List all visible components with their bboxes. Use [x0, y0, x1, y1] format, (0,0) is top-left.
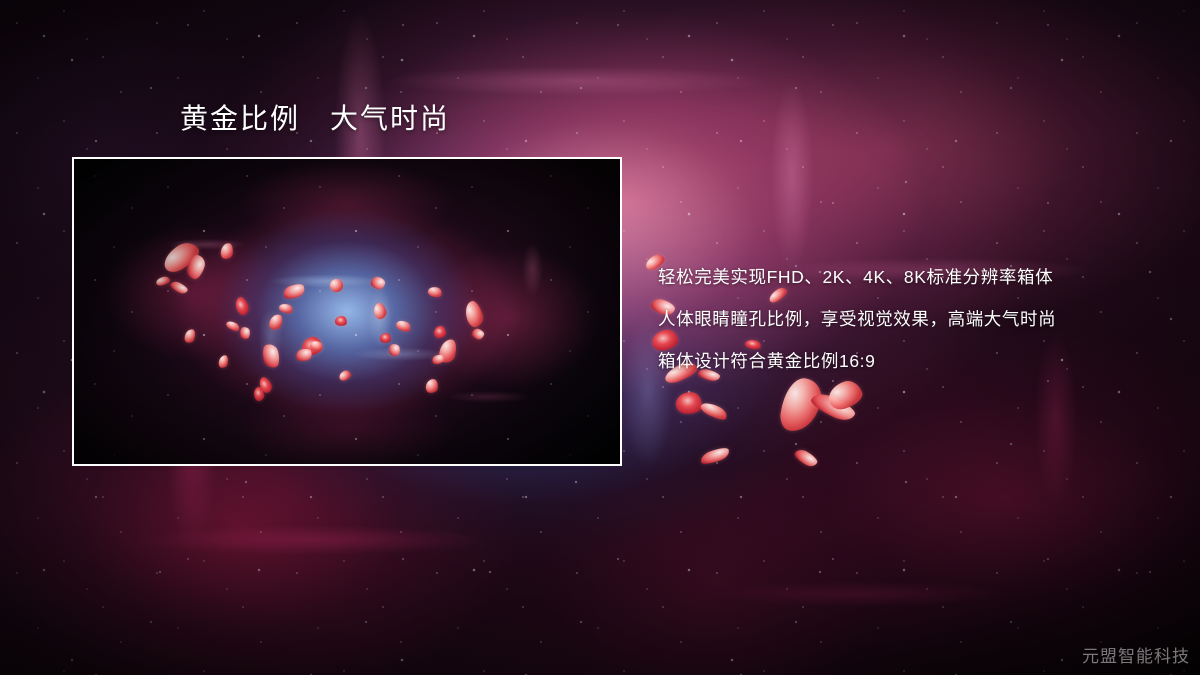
petal	[471, 327, 486, 341]
petal	[155, 275, 171, 286]
petal	[808, 389, 857, 424]
petal	[395, 318, 413, 334]
body-line-3: 箱体设计符合黄金比例16:9	[658, 340, 1168, 382]
petal	[185, 253, 208, 281]
petal	[309, 339, 325, 353]
petal	[793, 447, 820, 469]
petal	[301, 336, 323, 357]
petal	[370, 275, 386, 290]
watermark: 元盟智能科技	[1082, 642, 1190, 667]
petal	[379, 332, 391, 343]
page-title: 黄金比例 大气时尚	[180, 102, 450, 136]
petal	[169, 280, 189, 296]
petal	[233, 295, 251, 316]
body-line-1: 轻松完美实现FHD、2K、4K、8K标准分辨率箱体	[658, 256, 1168, 298]
inner-image-vignette	[74, 159, 620, 464]
petal	[778, 376, 823, 435]
petal	[433, 325, 446, 338]
petal	[330, 279, 343, 292]
petal	[278, 302, 294, 315]
petal	[257, 375, 274, 394]
petal	[388, 343, 401, 357]
image-frame	[72, 157, 622, 466]
petal	[281, 282, 306, 302]
petal	[253, 386, 266, 402]
petal	[267, 312, 284, 331]
inner-nebula-wisps	[74, 159, 620, 464]
petal	[463, 299, 486, 328]
petal	[425, 378, 439, 394]
petal	[334, 315, 348, 327]
petal	[437, 337, 458, 364]
petal	[239, 327, 250, 340]
petal	[431, 353, 445, 366]
presentation-slide: 黄金比例 大气时尚 轻松完美实现FHD、2K、4K、8K标准分辨率箱体 人体眼睛…	[0, 0, 1200, 675]
petal	[220, 242, 234, 260]
petal	[699, 445, 731, 467]
petal	[699, 399, 729, 422]
petal	[159, 238, 203, 277]
petal	[427, 285, 443, 299]
petal	[338, 369, 353, 382]
body-copy: 轻松完美实现FHD、2K、4K、8K标准分辨率箱体 人体眼睛瞳孔比例，享受视觉效…	[658, 256, 1168, 382]
petal	[183, 328, 196, 344]
petal	[372, 302, 388, 321]
petal	[260, 342, 281, 369]
petal	[218, 354, 230, 369]
petal	[825, 377, 865, 412]
inner-starfield	[74, 159, 620, 464]
inner-nebula-image	[74, 159, 620, 464]
petal	[225, 319, 241, 333]
body-line-2: 人体眼睛瞳孔比例，享受视觉效果，高端大气时尚	[658, 298, 1168, 340]
petal	[295, 347, 314, 363]
petal	[675, 391, 703, 416]
